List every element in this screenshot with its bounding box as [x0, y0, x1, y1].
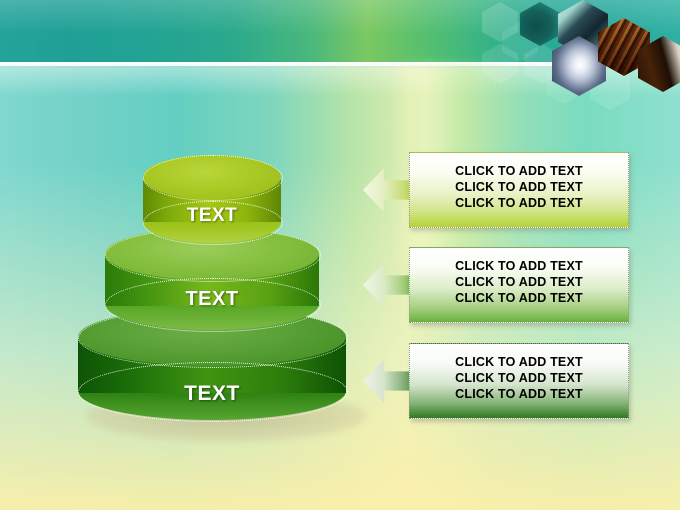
callout-2-arrow-left-icon — [363, 263, 415, 307]
callout-1-line-3: CLICK TO ADD TEXT — [410, 195, 628, 211]
callout-3-arrow-left-icon — [363, 359, 415, 403]
callout-3[interactable]: CLICK TO ADD TEXT CLICK TO ADD TEXT CLIC… — [363, 343, 629, 421]
callout-1-text-block: CLICK TO ADD TEXT CLICK TO ADD TEXT CLIC… — [410, 163, 628, 211]
callout-2-line-3: CLICK TO ADD TEXT — [410, 290, 628, 306]
tier-top-top-face — [143, 155, 281, 199]
callout-1-box[interactable]: CLICK TO ADD TEXT CLICK TO ADD TEXT CLIC… — [409, 152, 629, 228]
cake-tier-top[interactable]: TEXT — [143, 155, 281, 245]
callout-1[interactable]: CLICK TO ADD TEXT CLICK TO ADD TEXT CLIC… — [363, 152, 629, 230]
callout-3-text-block: CLICK TO ADD TEXT CLICK TO ADD TEXT CLIC… — [410, 354, 628, 402]
callout-2[interactable]: CLICK TO ADD TEXT CLICK TO ADD TEXT CLIC… — [363, 247, 629, 325]
callout-1-arrow-left-icon — [363, 168, 415, 212]
callout-1-line-2: CLICK TO ADD TEXT — [410, 179, 628, 195]
callout-1-line-1: CLICK TO ADD TEXT — [410, 163, 628, 179]
callout-3-line-2: CLICK TO ADD TEXT — [410, 370, 628, 386]
callout-3-box[interactable]: CLICK TO ADD TEXT CLICK TO ADD TEXT CLIC… — [409, 343, 629, 419]
callout-3-line-3: CLICK TO ADD TEXT — [410, 386, 628, 402]
callout-3-line-1: CLICK TO ADD TEXT — [410, 354, 628, 370]
callout-2-line-2: CLICK TO ADD TEXT — [410, 274, 628, 290]
callout-2-line-1: CLICK TO ADD TEXT — [410, 258, 628, 274]
callout-2-text-block: CLICK TO ADD TEXT CLICK TO ADD TEXT CLIC… — [410, 258, 628, 306]
hexagon-photo-cluster — [480, 0, 680, 100]
slide-canvas: TEXT TEXT TEXT CLICK TO ADD TEXT — [0, 0, 680, 510]
callout-2-box[interactable]: CLICK TO ADD TEXT CLICK TO ADD TEXT CLIC… — [409, 247, 629, 323]
